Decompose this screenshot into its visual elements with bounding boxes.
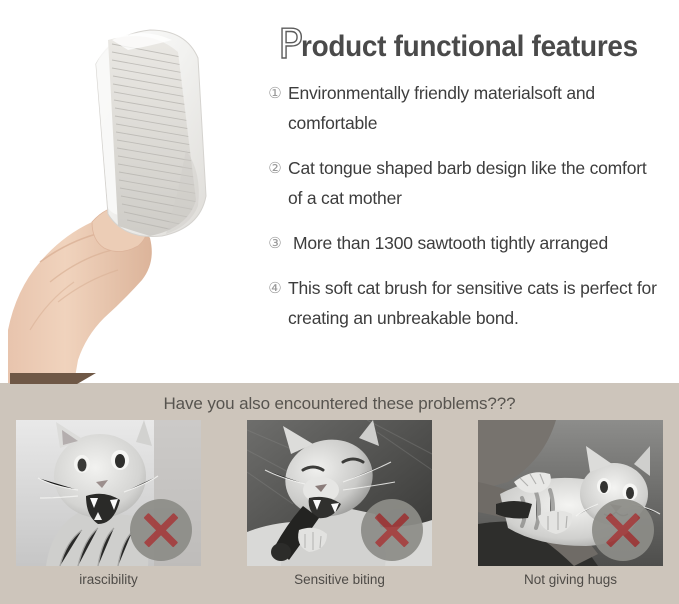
product-features-section: Product functional features ① Environmen… <box>0 0 679 383</box>
x-mark-badge <box>592 499 654 561</box>
feature-text-2: Cat tongue shaped barb design like the c… <box>288 153 672 213</box>
heading-rest-text: roduct functional features <box>301 30 638 64</box>
problem-caption-2: Sensitive biting <box>294 571 385 589</box>
features-list: ① Environmentally friendly materialsoft … <box>262 78 672 348</box>
feature-text-1: Environmentally friendly materialsoft an… <box>288 78 672 138</box>
list-marker-1: ① <box>262 78 288 108</box>
x-mark-badge <box>361 499 423 561</box>
feature-text-4: This soft cat brush for sensitive cats i… <box>288 273 672 333</box>
problem-card: Sensitive biting <box>247 420 432 590</box>
list-item: ① Environmentally friendly materialsoft … <box>262 78 672 138</box>
list-marker-4: ④ <box>262 273 288 303</box>
page-title: Product functional features <box>278 22 663 64</box>
list-marker-2: ② <box>262 153 288 183</box>
problem-photo-3 <box>478 420 663 566</box>
accent-wedge <box>10 373 96 384</box>
list-item: ② Cat tongue shaped barb design like the… <box>262 153 672 213</box>
problem-card: Not giving hugs <box>478 420 663 590</box>
x-mark-badge <box>130 499 192 561</box>
list-marker-3: ③ <box>262 228 288 258</box>
problems-row: irascibility <box>0 420 679 590</box>
problem-card: irascibility <box>16 420 201 590</box>
features-column: Product functional features ① Environmen… <box>258 0 679 383</box>
list-item: ④ This soft cat brush for sensitive cats… <box>262 273 672 333</box>
problem-photo-1 <box>16 420 201 566</box>
heading-initial-letter: P <box>278 24 302 65</box>
problem-caption-1: irascibility <box>79 571 138 589</box>
problems-section: Have you also encountered these problems… <box>0 383 679 604</box>
product-photo-illustration <box>0 0 255 383</box>
feature-text-3: More than 1300 sawtooth tightly arranged <box>288 228 672 258</box>
list-item: ③ More than 1300 sawtooth tightly arrang… <box>262 228 672 258</box>
problem-photo-2 <box>247 420 432 566</box>
problems-banner-title: Have you also encountered these problems… <box>0 392 679 416</box>
product-photo <box>0 0 255 383</box>
problem-caption-3: Not giving hugs <box>524 571 617 589</box>
